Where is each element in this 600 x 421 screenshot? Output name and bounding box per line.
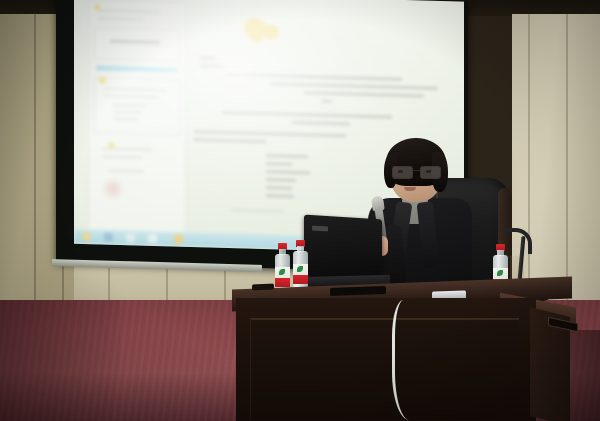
white-cable xyxy=(392,300,421,420)
desk-object-small xyxy=(252,284,274,291)
browser-icon[interactable] xyxy=(104,233,113,242)
photo-scene xyxy=(0,0,600,421)
folder-icon[interactable] xyxy=(126,233,135,242)
laptop[interactable] xyxy=(304,215,382,282)
presentation-icon[interactable] xyxy=(174,235,183,244)
laptop-logo xyxy=(312,226,328,232)
slide-title-card xyxy=(94,27,180,61)
slide-bullet-list xyxy=(266,154,336,204)
floor-shadow-left xyxy=(0,300,120,421)
water-bottle-middle[interactable] xyxy=(292,240,310,292)
start-orb-icon[interactable] xyxy=(82,232,91,241)
bottle-label-red xyxy=(293,275,308,284)
podium-front-panel xyxy=(250,318,519,420)
media-icon[interactable] xyxy=(148,234,157,243)
bottle-label-red xyxy=(275,278,290,287)
